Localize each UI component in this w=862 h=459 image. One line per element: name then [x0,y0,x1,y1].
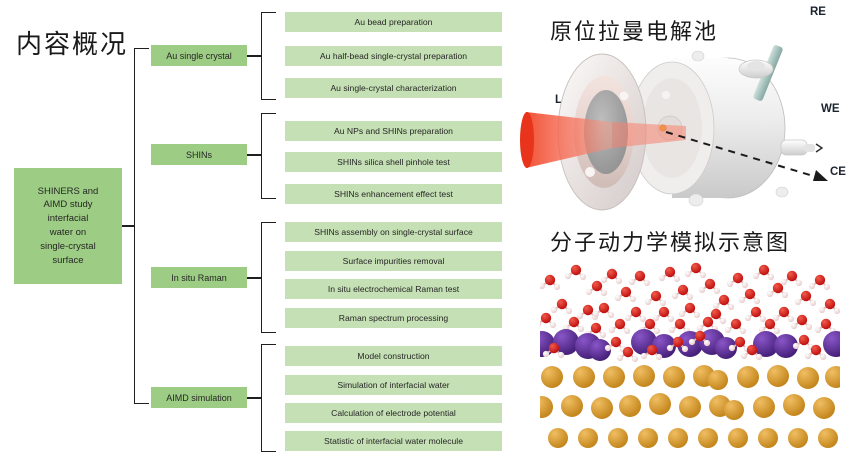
cell-screw-hole [662,91,670,99]
leaf-item[interactable]: SHINs enhancement effect test [285,184,502,204]
raman-cell-illustration [520,40,862,215]
we-port-tip [804,144,815,152]
md-simulation-illustration [540,262,840,452]
re-port-hole [747,61,765,71]
water-molecule-layer [540,263,840,338]
root-bracket [134,48,149,404]
laser-beam-cap [520,112,534,168]
leaf-item[interactable]: Au single-crystal characterization [285,78,502,98]
root-connector-stub [122,225,134,227]
leaf-item[interactable]: Calculation of electrode potential [285,403,502,423]
re-label: RE [810,6,826,18]
leaf-item[interactable]: SHINs assembly on single-crystal surface [285,222,502,242]
root-node[interactable]: SHINERS and AIMD study interfacial water… [14,168,122,284]
leaf-item[interactable]: Au NPs and SHINs preparation [285,121,502,141]
leaf-item[interactable]: Raman spectrum processing [285,308,502,328]
category-3-stub [247,277,261,279]
md-simulation-svg [540,262,840,452]
illustration-panel: 原位拉曼电解池 RE Laser WE CE [520,0,862,459]
category-1-stub [247,55,261,57]
leaf-item[interactable]: Statistic of interfacial water molecule [285,431,502,451]
gold-electrode-layer-3 [548,428,838,448]
group-4-bracket [261,344,276,452]
raman-cell-svg [520,40,862,215]
cation-layer [540,329,840,362]
leaf-item[interactable]: Au half-bead single-crystal preparation [285,46,502,66]
gold-electrode-layer-2 [540,393,835,420]
md-title: 分子动力学模拟示意图 [550,225,790,257]
group-2-bracket [261,113,276,199]
group-1-bracket [261,12,276,100]
leaf-item[interactable]: Au bead preparation [285,12,502,32]
leaf-item[interactable]: Surface impurities removal [285,251,502,271]
flow-chart: SHINERS and AIMD study interfacial water… [0,0,520,459]
leaf-item[interactable]: Model construction [285,346,502,366]
category-box-in-situ-raman[interactable]: In situ Raman [151,267,247,288]
cell-knob-bottom [689,194,703,206]
we-arrow [816,144,822,152]
we-electrode-port [781,140,822,155]
ce-pointer-arrow [813,170,828,181]
we-port-body [781,140,807,155]
cell-knob-bottom-right [776,187,788,197]
leaf-item[interactable]: SHINs silica shell pinhole test [285,152,502,172]
gold-electrode-layer-1 [541,365,840,390]
category-box-au-single-crystal[interactable]: Au single crystal [151,45,247,66]
flange-hole-top [620,92,629,101]
leaf-item[interactable]: Simulation of interfacial water [285,375,502,395]
leaf-item[interactable]: In situ electrochemical Raman test [285,279,502,299]
category-4-stub [247,397,261,399]
cell-knob-top [692,51,704,61]
flange-hole-bottom [585,167,595,177]
group-3-bracket [261,222,276,333]
category-box-aimd-simulation[interactable]: AIMD simulation [151,387,247,408]
category-2-stub [247,154,261,156]
category-box-shins[interactable]: SHINs [151,144,247,165]
